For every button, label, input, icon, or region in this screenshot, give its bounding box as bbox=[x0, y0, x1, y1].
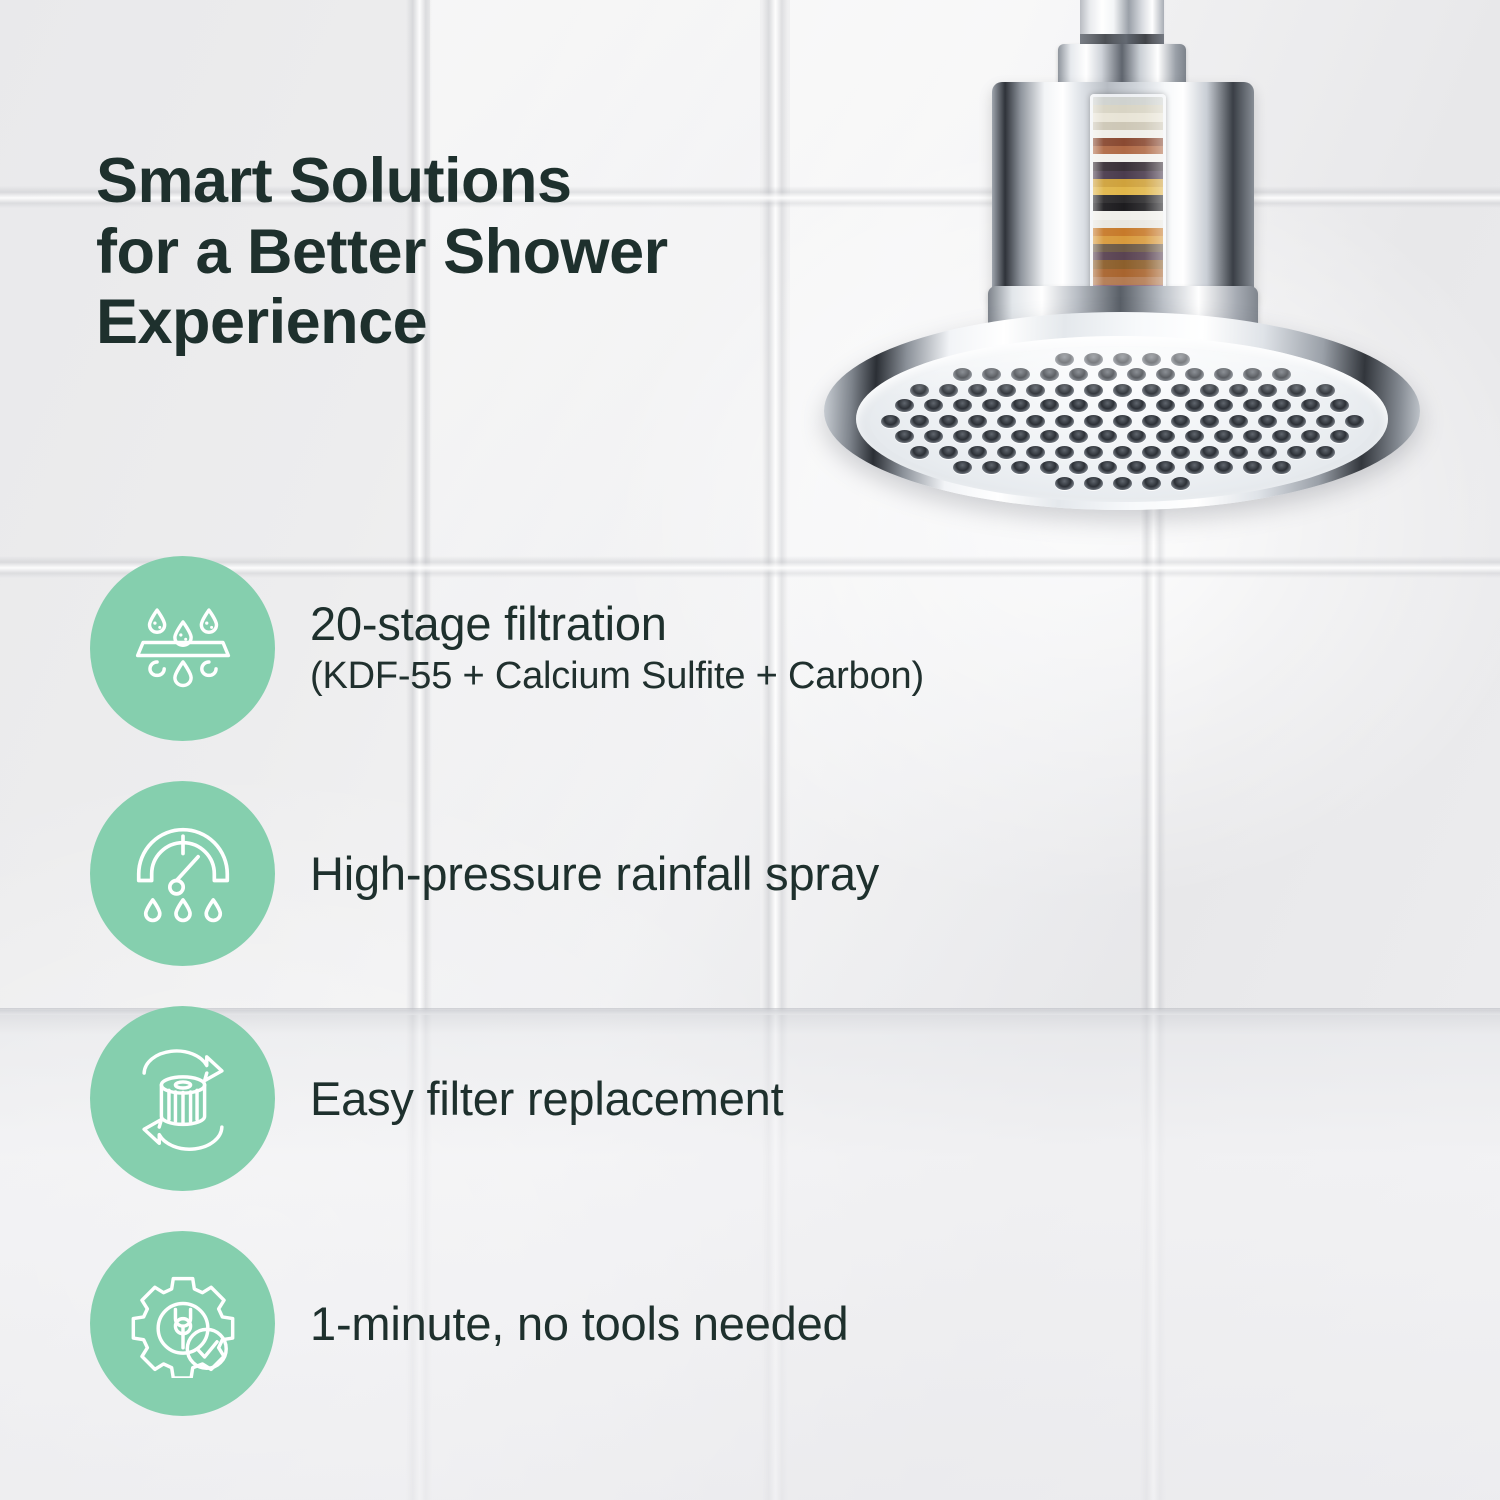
page-title: Smart Solutions for a Better Shower Expe… bbox=[96, 146, 896, 358]
feature-subtitle: (KDF-55 + Calcium Sulfite + Carbon) bbox=[310, 654, 1340, 700]
pressure-gauge-icon bbox=[129, 820, 237, 928]
feature-row: Easy filter replacement bbox=[90, 1006, 1390, 1231]
feature-icon-badge bbox=[90, 556, 275, 741]
filtration-droplets-icon bbox=[129, 595, 237, 703]
feature-title: Easy filter replacement bbox=[310, 1072, 1340, 1126]
feature-text: High-pressure rainfall spray bbox=[310, 781, 1340, 966]
headline-line-3: Experience bbox=[96, 287, 896, 358]
feature-title: 1-minute, no tools needed bbox=[310, 1297, 1340, 1351]
feature-row: 20-stage filtration (KDF-55 + Calcium Su… bbox=[90, 556, 1390, 781]
feature-icon-badge bbox=[90, 1006, 275, 1191]
gear-wrench-check-icon bbox=[129, 1270, 237, 1378]
face-plate-gloss bbox=[870, 346, 1374, 496]
shower-head-face-plate bbox=[870, 346, 1374, 496]
feature-title: High-pressure rainfall spray bbox=[310, 847, 1340, 901]
feature-row: 1-minute, no tools needed bbox=[90, 1231, 1390, 1456]
feature-text: 20-stage filtration (KDF-55 + Calcium Su… bbox=[310, 556, 1340, 741]
feature-text: Easy filter replacement bbox=[310, 1006, 1340, 1191]
feature-icon-badge bbox=[90, 1231, 275, 1416]
feature-icon-badge bbox=[90, 781, 275, 966]
filter-view-window bbox=[1090, 94, 1166, 296]
feature-title: 20-stage filtration bbox=[310, 597, 1340, 651]
window-glass-gloss bbox=[1090, 94, 1166, 296]
feature-row: High-pressure rainfall spray bbox=[90, 781, 1390, 1006]
headline-line-1: Smart Solutions bbox=[96, 146, 896, 217]
infographic-canvas: Smart Solutions for a Better Shower Expe… bbox=[0, 0, 1500, 1500]
feature-list: 20-stage filtration (KDF-55 + Calcium Su… bbox=[90, 556, 1390, 1456]
shower-head-product-image bbox=[812, 0, 1432, 539]
filter-cartridge-replace-icon bbox=[129, 1045, 237, 1153]
feature-text: 1-minute, no tools needed bbox=[310, 1231, 1340, 1416]
headline-line-2: for a Better Shower bbox=[96, 217, 896, 288]
